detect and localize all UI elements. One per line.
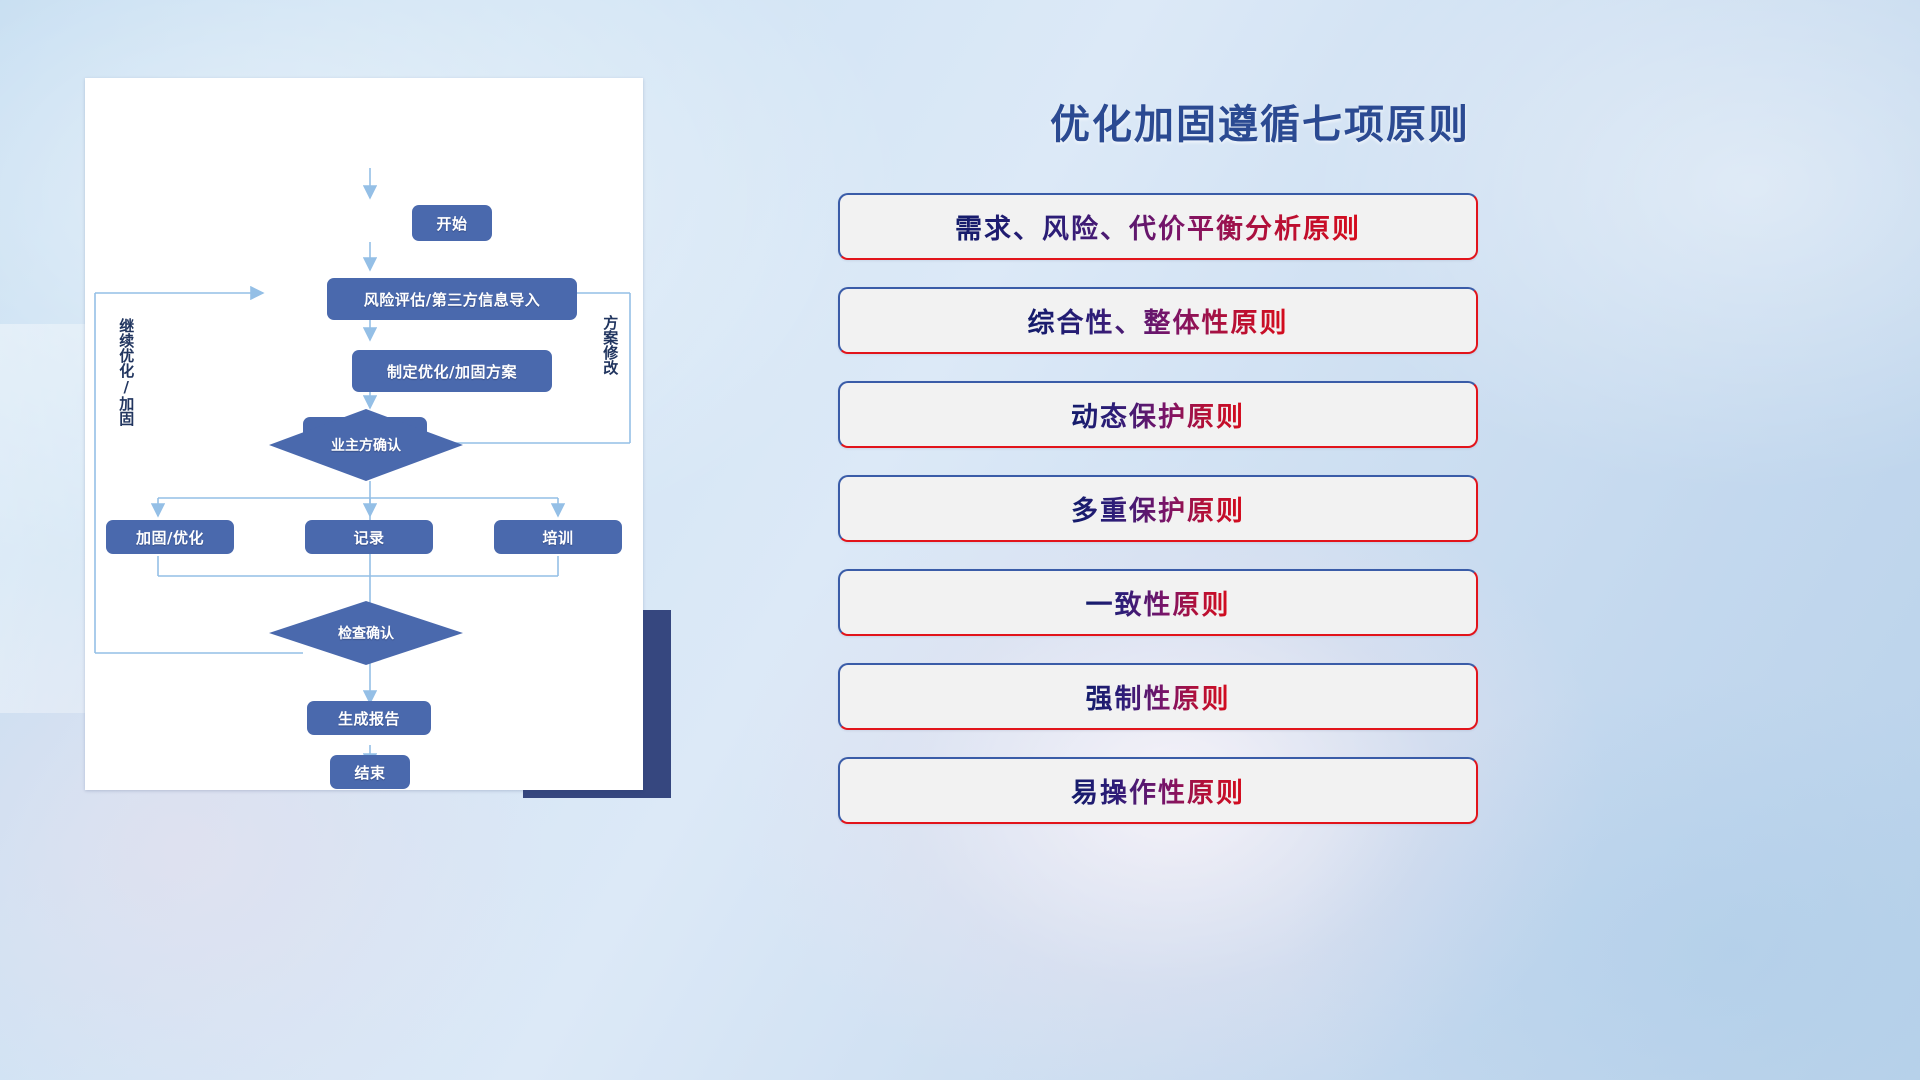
principles-title: 优化加固遵循七项原则 bbox=[940, 92, 1580, 150]
principle-card-2[interactable]: 综合性、整体性原则 bbox=[838, 287, 1478, 354]
flow-node-label: 制定优化/加固方案 bbox=[387, 361, 517, 382]
principle-label: 动态保护原则 bbox=[1071, 395, 1245, 434]
flow-node-generate-report[interactable]: 生成报告 bbox=[307, 701, 431, 735]
flow-node-plan[interactable]: 制定优化/加固方案 bbox=[352, 350, 552, 392]
principle-card-6[interactable]: 强制性原则 bbox=[838, 663, 1478, 730]
principle-label: 多重保护原则 bbox=[1071, 489, 1245, 528]
flow-node-owner-confirm[interactable]: 业主方确认 bbox=[268, 408, 464, 482]
flow-node-training[interactable]: 培训 bbox=[494, 520, 622, 554]
principle-card-5[interactable]: 一致性原则 bbox=[838, 569, 1478, 636]
flow-node-label: 开始 bbox=[436, 213, 467, 234]
flow-node-start[interactable]: 开始 bbox=[412, 205, 492, 241]
flow-label-continue-optimize: 继续优化/加固 bbox=[118, 318, 134, 450]
flow-node-risk-assessment[interactable]: 风险评估/第三方信息导入 bbox=[327, 278, 577, 320]
principles-list: 需求、风险、代价平衡分析原则 综合性、整体性原则 动态保护原则 多重保护原则 一… bbox=[838, 193, 1478, 851]
principle-label: 强制性原则 bbox=[1086, 677, 1231, 716]
principle-card-7[interactable]: 易操作性原则 bbox=[838, 757, 1478, 824]
flow-node-label: 加固/优化 bbox=[136, 527, 204, 548]
flow-node-label: 业主方确认 bbox=[268, 408, 464, 482]
principle-card-1[interactable]: 需求、风险、代价平衡分析原则 bbox=[838, 193, 1478, 260]
flow-node-label: 风险评估/第三方信息导入 bbox=[364, 289, 540, 310]
flow-node-label: 结束 bbox=[354, 762, 385, 783]
flow-node-label: 记录 bbox=[353, 527, 384, 548]
slide-canvas: 开始 风险评估/第三方信息导入 制定优化/加固方案 提交申请 业主方确认 加固/… bbox=[0, 0, 1920, 1080]
flow-node-check-confirm[interactable]: 检查确认 bbox=[268, 600, 464, 666]
principle-card-4[interactable]: 多重保护原则 bbox=[838, 475, 1478, 542]
flow-node-label: 生成报告 bbox=[338, 708, 400, 729]
flow-label-plan-revision: 方案修改 bbox=[602, 315, 618, 411]
principle-label: 需求、风险、代价平衡分析原则 bbox=[955, 207, 1361, 246]
principle-label: 易操作性原则 bbox=[1071, 771, 1245, 810]
flow-node-label: 检查确认 bbox=[268, 600, 464, 666]
principle-card-3[interactable]: 动态保护原则 bbox=[838, 381, 1478, 448]
flow-node-record[interactable]: 记录 bbox=[305, 520, 433, 554]
flow-node-reinforce-optimize[interactable]: 加固/优化 bbox=[106, 520, 234, 554]
flow-node-end[interactable]: 结束 bbox=[330, 755, 410, 789]
principle-label: 综合性、整体性原则 bbox=[1028, 301, 1289, 340]
principle-label: 一致性原则 bbox=[1086, 583, 1231, 622]
flow-node-label: 培训 bbox=[542, 527, 573, 548]
